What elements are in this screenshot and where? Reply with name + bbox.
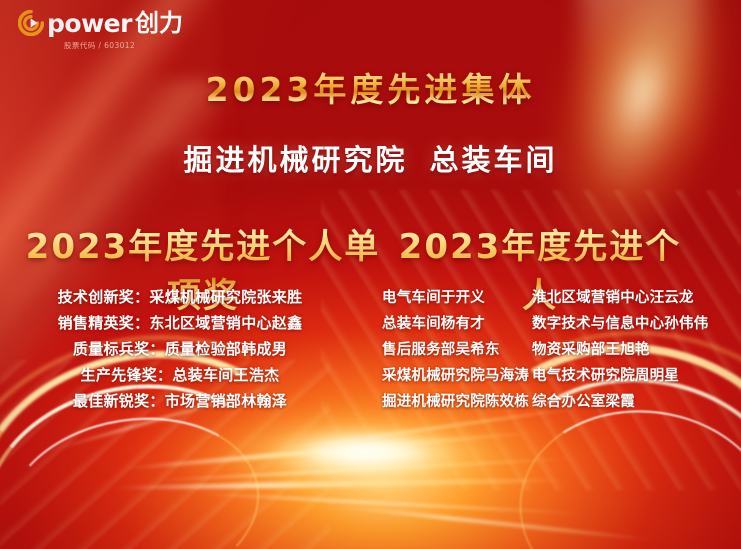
page-title-collective: 2023年度先进集体 <box>0 63 741 111</box>
table-row: 总装车间杨有才 <box>382 312 532 333</box>
list-item: 质量标兵奖：质量检验部韩成男 <box>30 338 330 359</box>
table-row: 电气车间于开义 <box>382 286 532 307</box>
collective-winners: 掘进机械研究院总装车间 <box>0 137 741 179</box>
award-poster: power 创力 股票代码 / 603012 2023年度先进集体 掘进机械研究… <box>0 0 741 549</box>
company-logo: power 创力 股票代码 / 603012 <box>18 10 183 51</box>
table-row: 淮北区域营销中心汪云龙 <box>532 286 712 307</box>
list-item: 技术创新奖：采煤机械研究院张来胜 <box>30 286 330 307</box>
logo-wordmark-cn: 创力 <box>135 11 183 35</box>
table-row: 物资采购部王旭艳 <box>532 338 712 359</box>
collective-winner-2: 总装车间 <box>430 143 558 177</box>
list-item: 最佳新锐奖：市场营销部林翰泽 <box>30 390 330 411</box>
table-row: 数字技术与信息中心孙伟伟 <box>532 312 712 333</box>
poster-content: 2023年度先进集体 掘进机械研究院总装车间 2023年度先进个人单项奖 202… <box>0 0 741 549</box>
list-item: 生产先锋奖：总装车间王浩杰 <box>30 364 330 385</box>
list-item: 销售精英奖：东北区域营销中心赵鑫 <box>30 312 330 333</box>
collective-winner-1: 掘进机械研究院 <box>183 143 407 177</box>
table-row: 掘进机械研究院陈效栋 <box>382 390 532 411</box>
stock-code-label: 股票代码 / 603012 <box>64 40 135 51</box>
table-row: 综合办公室梁霞 <box>532 390 712 411</box>
table-row: 电气技术研究院周明星 <box>532 364 712 385</box>
power-c-arrow-icon <box>18 10 44 36</box>
logo-wordmark: power <box>47 11 132 36</box>
logo-row: power 创力 <box>18 10 183 36</box>
table-row: 采煤机械研究院马海涛 <box>382 364 532 385</box>
table-row: 售后服务部吴希东 <box>382 338 532 359</box>
individual-award-list: 技术创新奖：采煤机械研究院张来胜 销售精英奖：东北区域营销中心赵鑫 质量标兵奖：… <box>30 286 330 411</box>
individual-name-grid: 电气车间于开义 淮北区域营销中心汪云龙 总装车间杨有才 数字技术与信息中心孙伟伟… <box>382 286 712 411</box>
